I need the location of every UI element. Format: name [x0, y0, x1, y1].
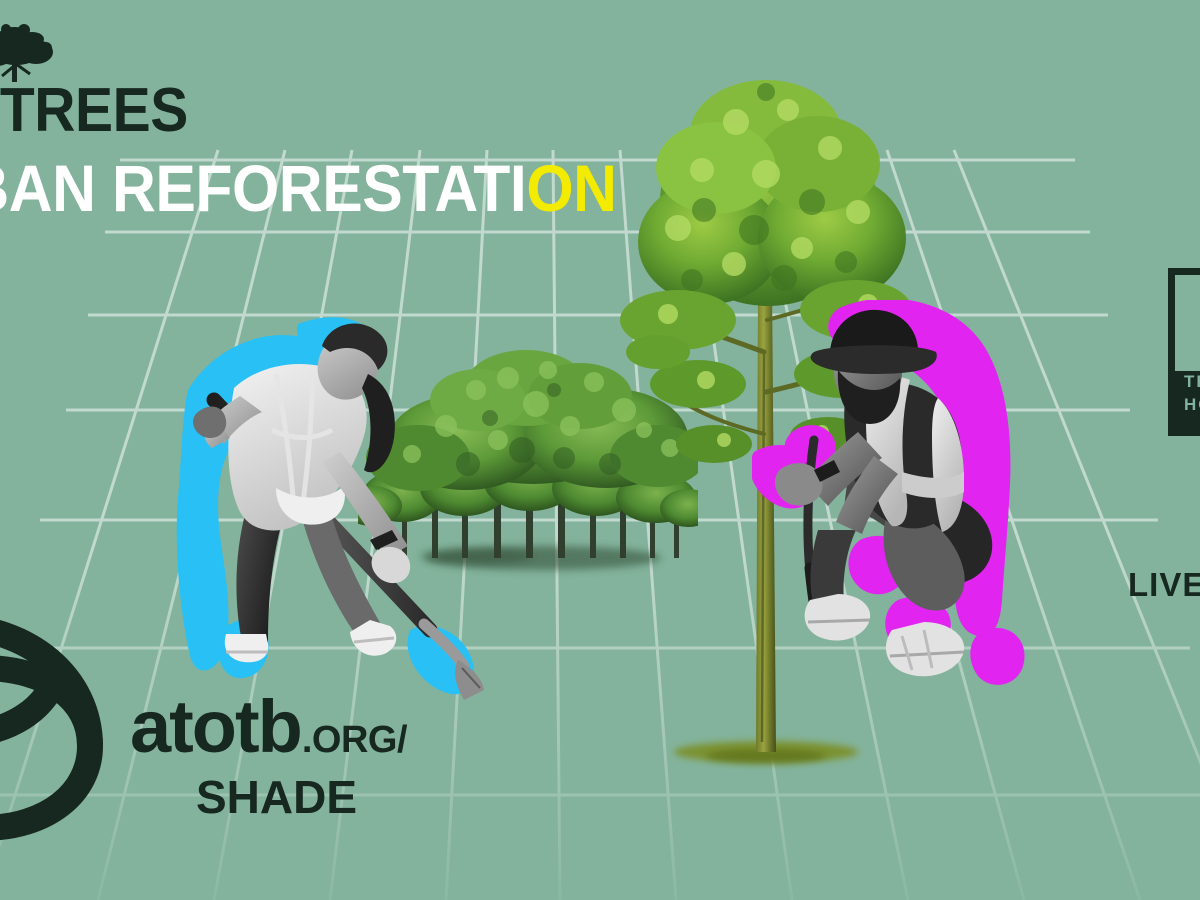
volunteer-man-crouching	[752, 300, 1042, 700]
campaign-graphic-canvas: 00 TREES RBAN REFORESTATION	[0, 0, 1200, 900]
partner-tree-icon	[0, 22, 54, 88]
headline-line-2-highlight: ON	[526, 151, 616, 225]
atotb-logo-mark[interactable]	[0, 612, 128, 842]
brand-url-lockup[interactable]: atotb .ORG/ SHADE	[130, 690, 407, 820]
partner-logo-plate: TR HO	[1175, 371, 1200, 429]
brand-tld: .ORG/	[302, 721, 407, 759]
headline-line-2: RBAN REFORESTATION	[0, 157, 616, 220]
headline-block: 00 TREES RBAN REFORESTATION	[0, 82, 677, 220]
partner-logo-line-1: TR	[1184, 371, 1200, 394]
partner-logo-frame[interactable]: TR HO	[1168, 268, 1200, 436]
brand-path: SHADE	[196, 774, 407, 820]
partner-logo-line-2: HO	[1184, 394, 1200, 417]
headline-line-1: 00 TREES	[0, 82, 616, 141]
headline-line-2-white: RBAN REFORESTATI	[0, 151, 526, 225]
brand-wordmark: atotb	[130, 690, 301, 764]
volunteer-woman-digging	[172, 312, 502, 702]
live-oak-label: LIVE	[1128, 566, 1200, 604]
brand-url-line: atotb .ORG/	[130, 690, 407, 764]
